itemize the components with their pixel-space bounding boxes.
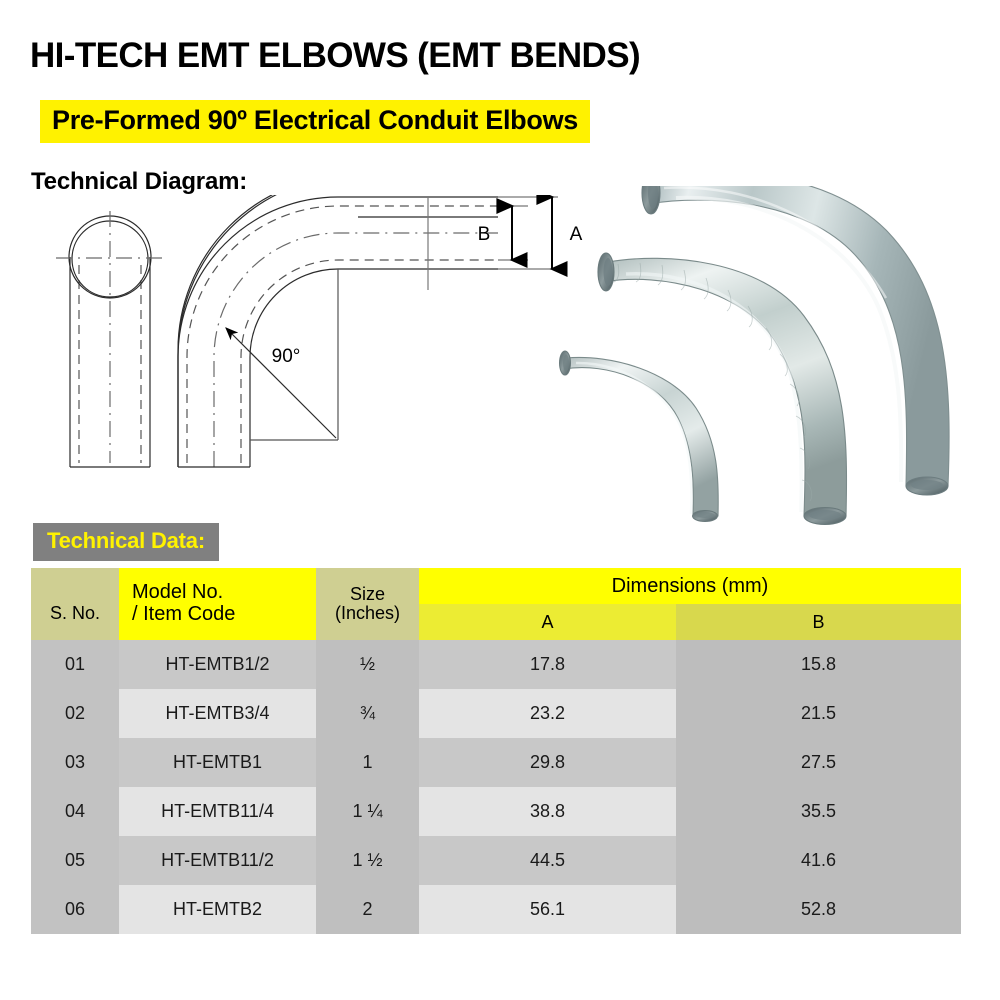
table-row: 05HT-EMTB11/21 ½44.541.6 <box>31 836 961 885</box>
product-photos <box>556 186 986 546</box>
pipe-end-view <box>56 211 168 467</box>
elbow-small <box>560 351 719 522</box>
column-header-sno: S. No. <box>31 568 119 640</box>
table-body: 01HT-EMTB1/2½17.815.802HT-EMTB3/4¾23.221… <box>31 640 961 934</box>
cell-b: 21.5 <box>676 689 961 738</box>
cell-a: 23.2 <box>419 689 676 738</box>
technical-diagram-label: Technical Diagram: <box>31 168 247 196</box>
cell-a: 44.5 <box>419 836 676 885</box>
table-row: 03HT-EMTB1129.827.5 <box>31 738 961 787</box>
cell-b: 15.8 <box>676 640 961 689</box>
technical-data-badge: Technical Data: <box>33 523 219 561</box>
cell-b: 52.8 <box>676 885 961 934</box>
page-title: HI-TECH EMT ELBOWS (EMT BENDS) <box>30 36 640 76</box>
cell-a: 38.8 <box>419 787 676 836</box>
cell-size: 1 ½ <box>316 836 419 885</box>
cell-a: 17.8 <box>419 640 676 689</box>
cell-b: 27.5 <box>676 738 961 787</box>
column-header-size: Size (Inches) <box>316 568 419 640</box>
cell-sno: 01 <box>31 640 119 689</box>
cell-sno: 03 <box>31 738 119 787</box>
technical-diagram: B A 90° <box>28 195 588 505</box>
column-header-dim-b: B <box>676 604 961 640</box>
table-row: 04HT-EMTB11/41 ¼38.835.5 <box>31 787 961 836</box>
product-spec-sheet: HI-TECH EMT ELBOWS (EMT BENDS) Pre-Forme… <box>0 0 1000 1000</box>
table-row: 06HT-EMTB2256.152.8 <box>31 885 961 934</box>
column-header-dimensions: Dimensions (mm) <box>419 568 961 604</box>
cell-a: 29.8 <box>419 738 676 787</box>
cell-b: 41.6 <box>676 836 961 885</box>
technical-data-table: S. No. Model No. / Item Code Size (Inche… <box>31 568 961 934</box>
cell-sno: 02 <box>31 689 119 738</box>
cell-sno: 04 <box>31 787 119 836</box>
angle-leader-line <box>226 328 336 438</box>
table-row: 02HT-EMTB3/4¾23.221.5 <box>31 689 961 738</box>
table-row: 01HT-EMTB1/2½17.815.8 <box>31 640 961 689</box>
cell-model: HT-EMTB11/4 <box>119 787 316 836</box>
cell-model: HT-EMTB3/4 <box>119 689 316 738</box>
table-header-row-1: S. No. Model No. / Item Code Size (Inche… <box>31 568 961 604</box>
cell-b: 35.5 <box>676 787 961 836</box>
dimension-label-b: B <box>478 224 491 245</box>
subtitle-banner: Pre-Formed 90º Electrical Conduit Elbows <box>40 100 590 143</box>
column-header-model: Model No. / Item Code <box>119 568 316 640</box>
cell-model: HT-EMTB11/2 <box>119 836 316 885</box>
cell-size: ¾ <box>316 689 419 738</box>
column-header-model-line1: Model No. <box>132 582 316 604</box>
table-head: S. No. Model No. / Item Code Size (Inche… <box>31 568 961 640</box>
cell-size: 1 ¼ <box>316 787 419 836</box>
cell-a: 56.1 <box>419 885 676 934</box>
subtitle-container: Pre-Formed 90º Electrical Conduit Elbows <box>40 100 590 143</box>
column-header-sno-label: S. No. <box>31 585 119 624</box>
angle-label: 90° <box>272 346 301 367</box>
dimension-extension-lines <box>428 197 558 290</box>
cell-model: HT-EMTB2 <box>119 885 316 934</box>
column-header-size-lines: Size (Inches) <box>316 585 419 624</box>
column-header-size-line2: (Inches) <box>316 604 419 623</box>
cell-size: ½ <box>316 640 419 689</box>
cell-sno: 05 <box>31 836 119 885</box>
cell-sno: 06 <box>31 885 119 934</box>
cell-size: 2 <box>316 885 419 934</box>
column-header-model-lines: Model No. / Item Code <box>119 582 316 625</box>
cell-size: 1 <box>316 738 419 787</box>
column-header-model-line2: / Item Code <box>132 604 316 626</box>
column-header-dim-a: A <box>419 604 676 640</box>
elbow-medium <box>598 253 847 525</box>
cell-model: HT-EMTB1 <box>119 738 316 787</box>
cell-model: HT-EMTB1/2 <box>119 640 316 689</box>
column-header-size-line1: Size <box>316 585 419 604</box>
